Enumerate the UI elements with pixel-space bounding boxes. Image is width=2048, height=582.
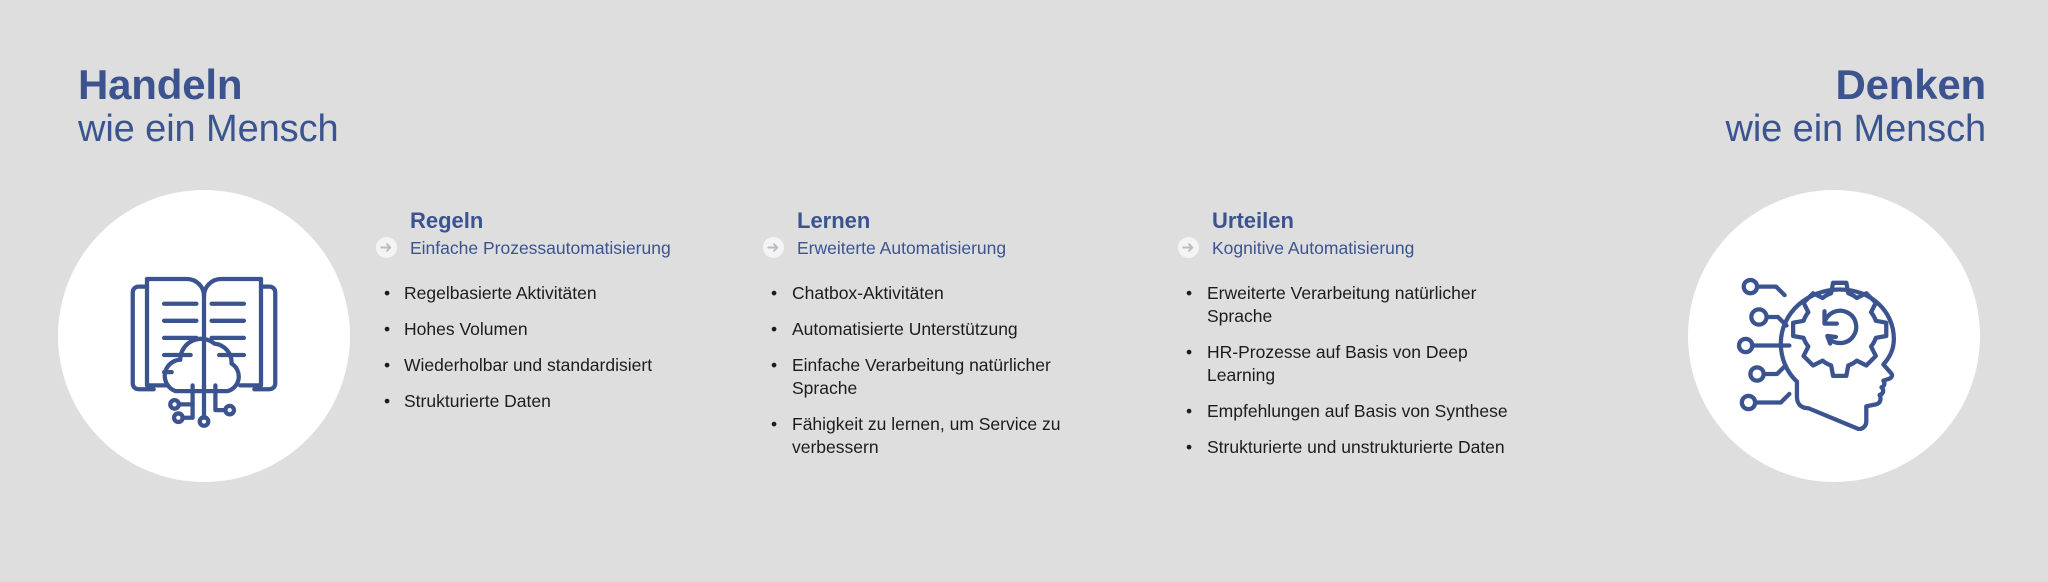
- column-lernen: Lernen Erweiterte Automatisierung • Chat…: [762, 208, 1092, 472]
- list-item: • Wiederholbar und standardisiert: [375, 354, 675, 377]
- list-item: • Empfehlungen auf Basis von Synthese: [1177, 400, 1527, 423]
- list-item-label: Chatbox-Aktivitäten: [792, 283, 944, 303]
- list-item-label: Regelbasierte Aktivitäten: [404, 283, 597, 303]
- list-item: • Erweiterte Verarbeitung natürlicher Sp…: [1177, 282, 1527, 328]
- list-item-label: Erweiterte Verarbeitung natürlicher Spra…: [1207, 283, 1476, 326]
- left-icon-disc: [58, 190, 350, 482]
- list-item-label: Automatisierte Unterstützung: [792, 319, 1018, 339]
- list-item: • Fähigkeit zu lernen, um Service zu ver…: [762, 413, 1092, 459]
- column-title: Urteilen: [1212, 208, 1527, 234]
- list-item: • Regelbasierte Aktivitäten: [375, 282, 675, 305]
- bullet-glyph: •: [771, 318, 777, 341]
- column-header: Lernen Erweiterte Automatisierung: [762, 208, 1092, 260]
- open-book-cloud-circuit-icon: [109, 241, 299, 431]
- list-item-label: Wiederholbar und standardisiert: [404, 355, 652, 375]
- list-item: • Hohes Volumen: [375, 318, 675, 341]
- heading-left-regular: wie ein Mensch: [78, 110, 339, 149]
- bullet-glyph: •: [384, 354, 390, 377]
- bullet-glyph: •: [1186, 282, 1192, 305]
- bullet-list: • Regelbasierte Aktivitäten • Hohes Volu…: [375, 282, 675, 413]
- bullet-list: • Erweiterte Verarbeitung natürlicher Sp…: [1177, 282, 1527, 460]
- list-item-label: HR-Prozesse auf Basis von Deep Learning: [1207, 342, 1468, 385]
- column-title: Regeln: [410, 208, 675, 234]
- heading-right-bold: Denken: [1726, 64, 1987, 107]
- column-urteilen: Urteilen Kognitive Automatisierung • Erw…: [1177, 208, 1527, 472]
- list-item-label: Strukturierte und unstrukturierte Daten: [1207, 437, 1505, 457]
- arrow-right-circle-icon: [1177, 236, 1200, 259]
- bullet-glyph: •: [771, 354, 777, 377]
- head-gear-refresh-icon: [1734, 241, 1934, 431]
- column-regeln: Regeln Einfache Prozessautomatisierung •…: [375, 208, 675, 426]
- heading-left-bold: Handeln: [78, 64, 339, 107]
- list-item: • Strukturierte und unstrukturierte Date…: [1177, 436, 1527, 459]
- list-item-label: Einfache Verarbeitung natürlicher Sprach…: [792, 355, 1051, 398]
- heading-right: Denken wie ein Mensch: [1726, 64, 1987, 149]
- column-title: Lernen: [797, 208, 1092, 234]
- column-subtitle: Einfache Prozessautomatisierung: [410, 237, 675, 260]
- list-item: • Chatbox-Aktivitäten: [762, 282, 1092, 305]
- bullet-glyph: •: [771, 282, 777, 305]
- bullet-glyph: •: [1186, 341, 1192, 364]
- list-item: • HR-Prozesse auf Basis von Deep Learnin…: [1177, 341, 1527, 387]
- bullet-glyph: •: [384, 318, 390, 341]
- column-subtitle: Kognitive Automatisierung: [1212, 237, 1527, 260]
- bullet-glyph: •: [771, 413, 777, 436]
- bullet-glyph: •: [384, 390, 390, 413]
- bullet-glyph: •: [384, 282, 390, 305]
- column-header: Urteilen Kognitive Automatisierung: [1177, 208, 1527, 260]
- list-item: • Automatisierte Unterstützung: [762, 318, 1092, 341]
- list-item: • Strukturierte Daten: [375, 390, 675, 413]
- list-item-label: Strukturierte Daten: [404, 391, 551, 411]
- arrow-right-circle-icon: [762, 236, 785, 259]
- bullet-glyph: •: [1186, 436, 1192, 459]
- bullet-list: • Chatbox-Aktivitäten • Automatisierte U…: [762, 282, 1092, 460]
- heading-right-regular: wie ein Mensch: [1726, 110, 1987, 149]
- list-item: • Einfache Verarbeitung natürlicher Spra…: [762, 354, 1092, 400]
- column-subtitle: Erweiterte Automatisierung: [797, 237, 1092, 260]
- heading-left: Handeln wie ein Mensch: [78, 64, 339, 149]
- arrow-right-circle-icon: [375, 236, 398, 259]
- list-item-label: Fähigkeit zu lernen, um Service zu verbe…: [792, 414, 1060, 457]
- right-icon-disc: [1688, 190, 1980, 482]
- bullet-glyph: •: [1186, 400, 1192, 423]
- list-item-label: Hohes Volumen: [404, 319, 528, 339]
- infographic-canvas: Handeln wie ein Mensch Denken wie ein Me…: [0, 0, 2048, 582]
- column-header: Regeln Einfache Prozessautomatisierung: [375, 208, 675, 260]
- list-item-label: Empfehlungen auf Basis von Synthese: [1207, 401, 1508, 421]
